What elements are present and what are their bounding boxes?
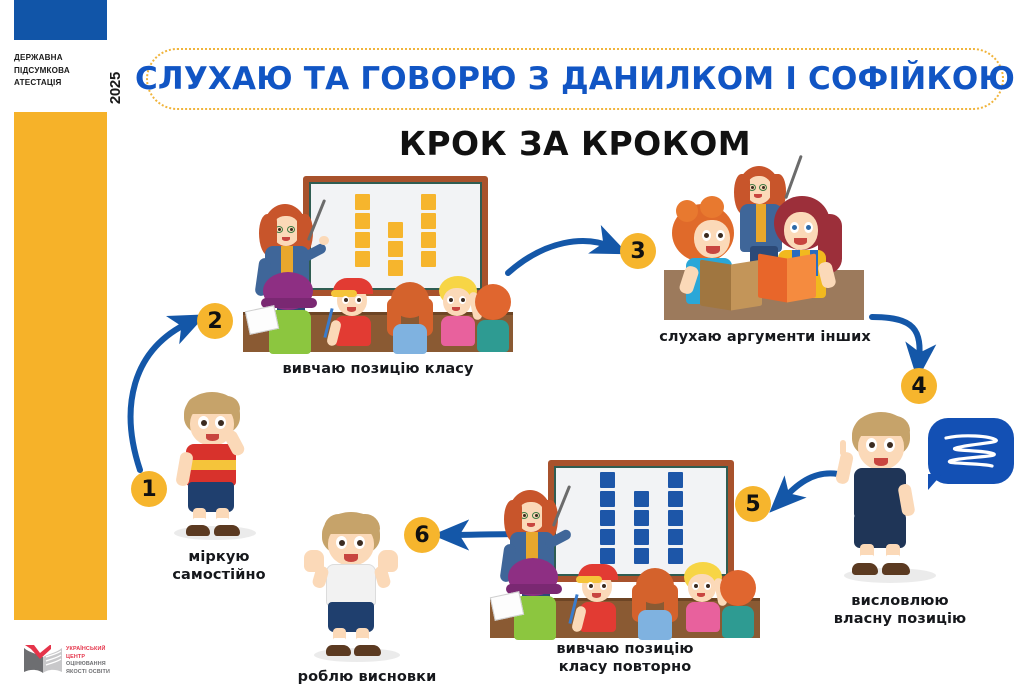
- pupil-purple-cap: [261, 272, 319, 352]
- scene-step-3: [658, 166, 873, 326]
- caption-step-5-line2: класу повторно: [500, 658, 750, 676]
- chart-bar: [634, 548, 649, 564]
- pupil-red-cap: [574, 562, 626, 638]
- pupil-purple-cap: [506, 558, 564, 638]
- chart-bar: [668, 491, 683, 507]
- book-icon: [700, 258, 762, 308]
- caption-step-3-line1: слухаю аргументи інших: [640, 328, 890, 346]
- scene-step-5: [490, 456, 760, 638]
- chart-bar: [421, 251, 436, 267]
- shirt: [326, 564, 376, 606]
- chart-bar: [668, 529, 683, 545]
- caption-step-1-line2: самостійно: [140, 566, 298, 584]
- chart-bar: [634, 491, 649, 507]
- step-badge-4[interactable]: 4: [901, 368, 937, 404]
- chart-bar: [421, 213, 436, 229]
- arrow-4-5: [782, 473, 838, 500]
- chart-bar: [668, 472, 683, 488]
- chart-bar: [355, 194, 370, 210]
- chart-bar: [668, 510, 683, 526]
- chart-bar: [634, 510, 649, 526]
- step-badge-3[interactable]: 3: [620, 233, 656, 269]
- caption-step-5: вивчаю позицію класу повторно: [500, 640, 750, 676]
- caption-step-4-line2: власну позицію: [820, 610, 980, 628]
- pupil-braids-back: [381, 282, 437, 352]
- caption-step-4-line1: висловлюю: [820, 592, 980, 610]
- pointing-finger-icon: [840, 440, 846, 456]
- chart-bar: [355, 232, 370, 248]
- caption-step-2: вивчаю позицію класу: [248, 360, 508, 378]
- chart-bar: [634, 529, 649, 545]
- chart-bar: [355, 213, 370, 229]
- scene-step-1: [162, 392, 272, 540]
- caption-step-5-line1: вивчаю позицію: [500, 640, 750, 658]
- step-badge-6[interactable]: 6: [404, 517, 440, 553]
- chart-bar: [421, 232, 436, 248]
- scene-step-6: [302, 512, 414, 662]
- step-badge-5[interactable]: 5: [735, 486, 771, 522]
- pupil-ginger: [471, 284, 517, 352]
- step-badge-2[interactable]: 2: [197, 303, 233, 339]
- caption-step-3: слухаю аргументи інших: [640, 328, 890, 346]
- book-icon: [758, 252, 816, 300]
- child-reading-left: [672, 204, 764, 320]
- pupil-ginger: [716, 570, 762, 638]
- chart-bar: [600, 491, 615, 507]
- chart-bar: [600, 472, 615, 488]
- caption-step-2-line1: вивчаю позицію класу: [248, 360, 508, 378]
- chart-bar: [388, 222, 403, 238]
- arrow-2-3: [508, 241, 612, 273]
- pupil-braids-back: [626, 568, 682, 638]
- scene-step-4: [834, 412, 954, 584]
- chart-bar: [421, 194, 436, 210]
- caption-step-1: міркую самостійно: [140, 548, 298, 584]
- infographic-canvas: ДЕРЖАВНА ПІДСУМКОВА АТЕСТАЦІЯ 2025 СЛУХА…: [0, 0, 1024, 700]
- chart-bar: [600, 510, 615, 526]
- chart-bar: [388, 260, 403, 276]
- caption-step-1-line1: міркую: [140, 548, 298, 566]
- chart-bar: [600, 529, 615, 545]
- child-reading-right: [766, 196, 866, 320]
- step-badge-1[interactable]: 1: [131, 471, 167, 507]
- caption-step-6-line1: роблю висновки: [284, 668, 450, 686]
- pupil-red-cap: [329, 276, 381, 352]
- chart-bar: [388, 241, 403, 257]
- caption-step-4: висловлюю власну позицію: [820, 592, 980, 628]
- scene-step-2: [243, 172, 513, 352]
- caption-step-6: роблю висновки: [284, 668, 450, 686]
- chart-bar: [355, 251, 370, 267]
